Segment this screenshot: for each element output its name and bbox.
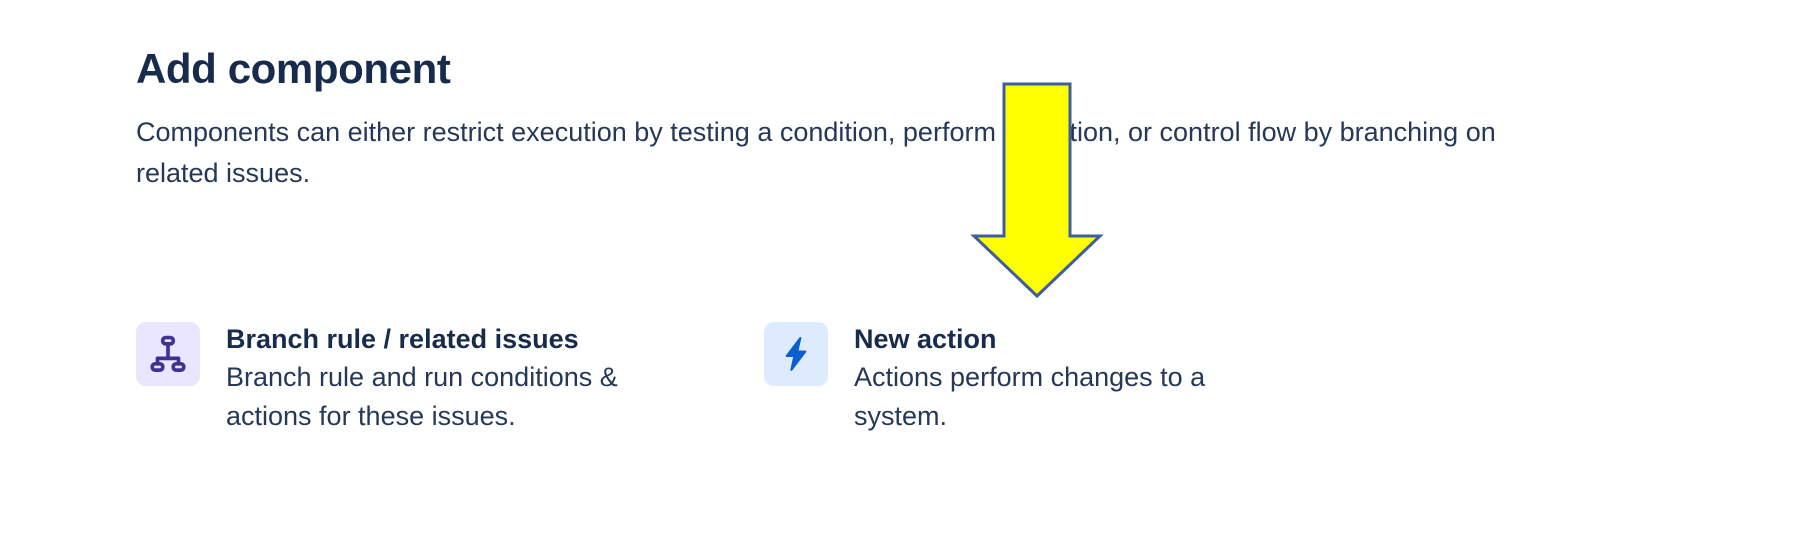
add-component-panel: Add component Components can either rest… [0, 0, 1800, 541]
panel-header: Add component Components can either rest… [136, 44, 1736, 194]
option-description: Branch rule and run conditions & actions… [226, 358, 646, 436]
hierarchy-branch-icon [136, 322, 200, 386]
component-options-list: Branch rule / related issues Branch rule… [136, 320, 1254, 437]
lightning-bolt-icon [764, 322, 828, 386]
option-description: Actions perform changes to a system. [854, 358, 1254, 436]
option-title: Branch rule / related issues [226, 320, 646, 358]
option-text-group: Branch rule / related issues Branch rule… [226, 320, 646, 437]
page-description: Components can either restrict execution… [136, 112, 1496, 194]
option-branch-rule-related-issues[interactable]: Branch rule / related issues Branch rule… [136, 320, 646, 437]
page-title: Add component [136, 44, 1736, 94]
option-text-group: New action Actions perform changes to a … [854, 320, 1254, 437]
option-new-action[interactable]: New action Actions perform changes to a … [764, 320, 1254, 437]
option-title: New action [854, 320, 1254, 358]
